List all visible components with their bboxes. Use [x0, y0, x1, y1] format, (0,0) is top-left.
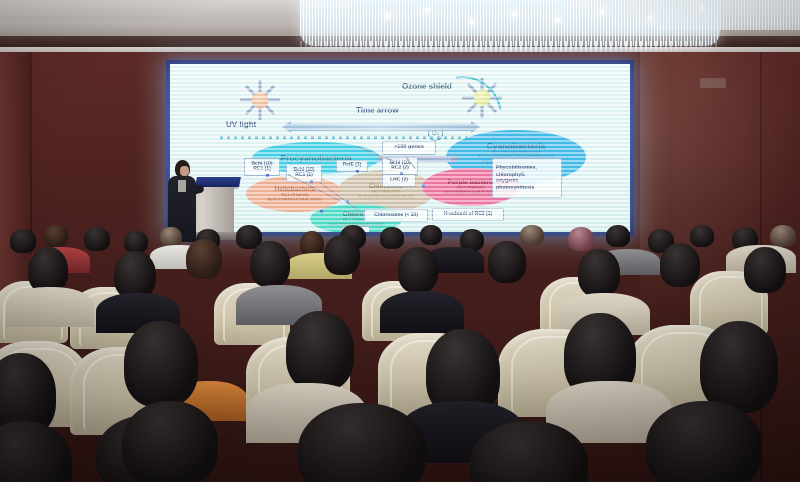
audience-head [114, 251, 156, 299]
box-phycobilisomes: Phycobilisomes, chlorophyll, oxygenic ph… [492, 158, 562, 198]
presenter-badge [178, 180, 186, 192]
chandelier-sparkle [512, 12, 516, 16]
audience-head [324, 235, 360, 275]
audience-head [186, 239, 222, 279]
audience-head [744, 247, 786, 293]
box-gene-count: >100 genes [382, 141, 436, 155]
chandelier-sparkle [600, 10, 604, 14]
connector-node [310, 180, 313, 183]
conference-hall-photo: UV light Ozone shield O3 Time ar [0, 0, 800, 482]
chandelier-sparkle [648, 16, 652, 20]
box-bchl-rc1-mid: Bchl (10) RC1 (1) [286, 164, 322, 182]
wall-speaker-box [700, 78, 726, 88]
chandelier-sparkle [470, 20, 474, 24]
audience-head [84, 227, 110, 251]
audience-head [700, 321, 778, 413]
audience-head [690, 225, 714, 247]
connector-node [422, 184, 425, 187]
audience-head [286, 311, 354, 391]
box-lhc: LHC (2) [382, 174, 416, 187]
uv-light-label: UV light [226, 120, 256, 129]
audience-head [488, 241, 526, 283]
chandelier-sparkle [425, 8, 429, 12]
audience-head [298, 403, 426, 482]
chandelier-sparkle [385, 14, 389, 18]
time-arrow-band [291, 124, 471, 131]
connector-node [320, 210, 323, 213]
time-arrow-head-left [282, 121, 291, 133]
audience-head [578, 249, 620, 297]
audience-head [124, 231, 148, 253]
gene-transfer-arrowhead [451, 153, 460, 165]
audience-shoulders [6, 287, 94, 327]
audience-head [160, 227, 182, 247]
connector-node [356, 170, 359, 173]
uv-sun-icon [240, 80, 280, 120]
audience-head [10, 229, 36, 253]
audience-head [44, 225, 68, 247]
box-chlorosome: Chlorosome (< 10) [364, 209, 428, 222]
audience-head [520, 225, 544, 245]
box-pete: PetE (1) [336, 160, 368, 172]
audience-head [0, 421, 72, 482]
chandelier-secondary [648, 0, 800, 30]
time-arrow-head-right [471, 121, 480, 133]
audience [0, 225, 800, 482]
audience-head [770, 225, 796, 247]
time-arrow-label: Time arrow [356, 106, 399, 115]
audience-head [568, 227, 594, 251]
chandelier-sparkle [700, 6, 704, 10]
presenter-face [180, 166, 189, 176]
connector-node [266, 174, 269, 177]
box-bchl-rc1-left: Bchl (10) RC1 (1) [244, 158, 280, 176]
slide-content: UV light Ozone shield O3 Time ar [170, 64, 630, 232]
audience-head [606, 225, 630, 247]
audience-head [398, 247, 438, 293]
audience-head [646, 401, 762, 482]
projection-screen: UV light Ozone shield O3 Time ar [170, 64, 630, 232]
connector-node [400, 172, 403, 175]
audience-shoulders [380, 291, 464, 333]
audience-head [250, 241, 290, 287]
audience-head [124, 321, 198, 407]
audience-head [122, 401, 218, 482]
audience-head [420, 225, 442, 245]
box-h-subunit: H-subunit of RC2 (1) [432, 208, 504, 221]
chandelier-sparkle [556, 18, 560, 22]
audience-head [660, 243, 700, 287]
audience-head [380, 227, 404, 249]
